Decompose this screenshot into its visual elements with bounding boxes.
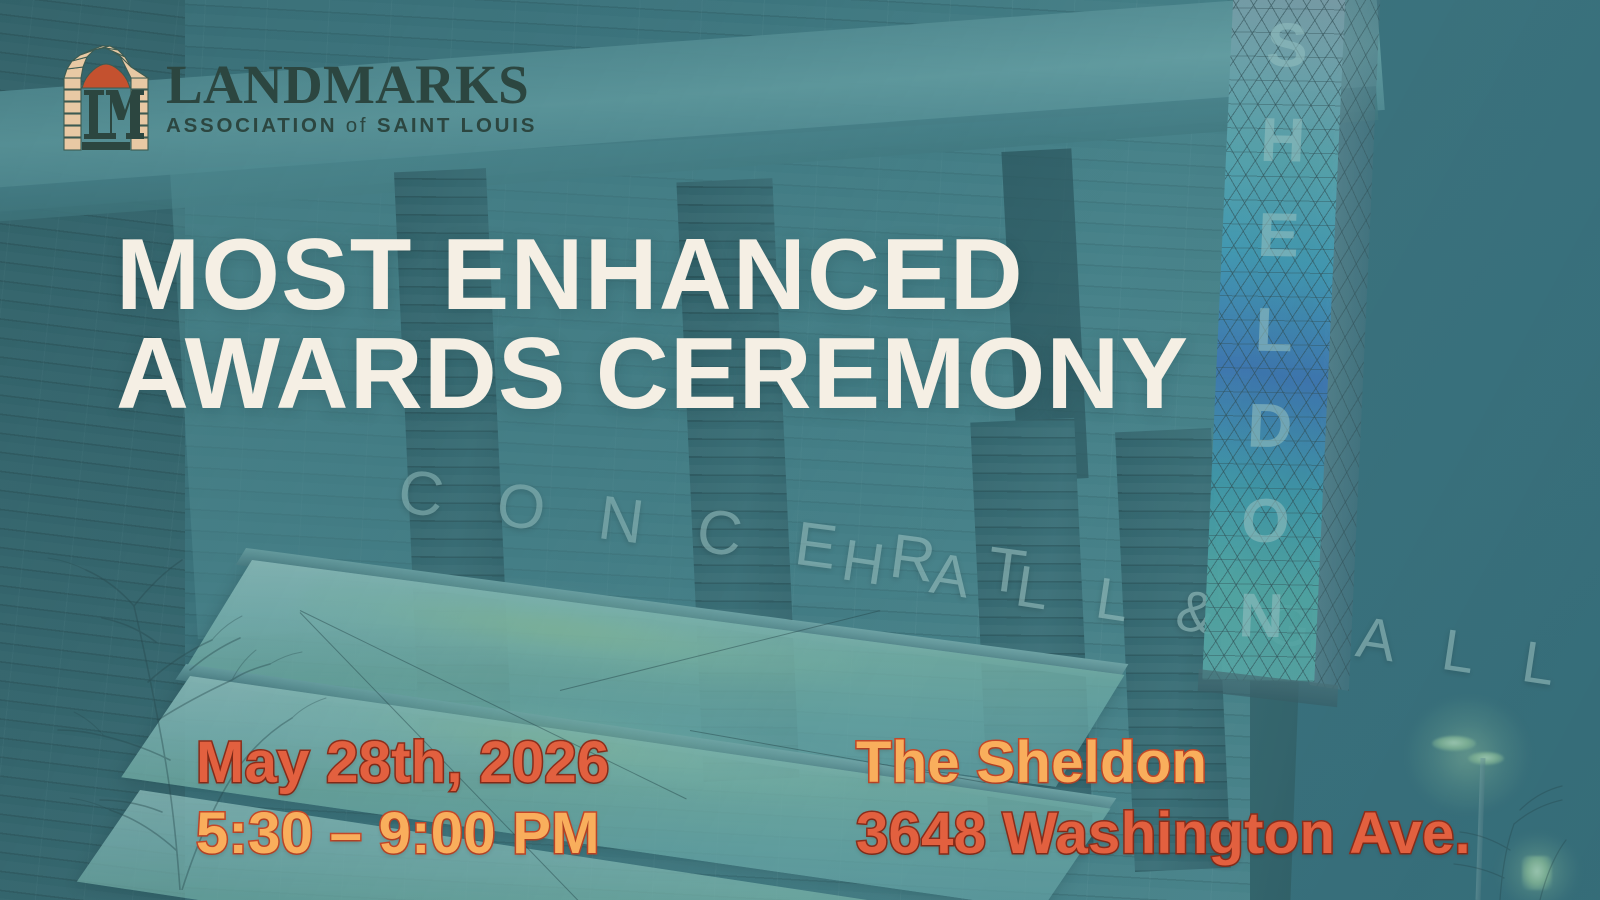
poster-content: LANDMARKS ASSOCIATION of SAINT LOUIS MOS… [0,0,1600,900]
event-datetime-block: May 28th, 2026 5:30 – 9:00 PM [196,728,610,870]
logo-title: LANDMARKS [166,60,537,111]
headline-line-2: AWARDS CEREMONY [116,325,1189,424]
event-venue-block: The Sheldon 3648 Washington Ave. [856,728,1471,870]
logo-subtitle-of: of [346,114,369,137]
event-time: 5:30 – 9:00 PM [196,799,610,870]
logo-subtitle: ASSOCIATION of SAINT LOUIS [166,116,537,137]
archway-landmark-icon [60,42,152,154]
event-headline: MOST ENHANCED AWARDS CEREMONY [116,226,1189,424]
event-poster: C O N C E R T H A L L & G A L L E R I E … [0,0,1600,900]
headline-line-1: MOST ENHANCED [116,226,1189,325]
logo-wordmark: LANDMARKS ASSOCIATION of SAINT LOUIS [166,60,537,136]
logo-subtitle-association: ASSOCIATION [166,114,337,137]
logo-subtitle-saint-louis: SAINT LOUIS [377,114,537,137]
landmarks-logo: LANDMARKS ASSOCIATION of SAINT LOUIS [60,42,537,154]
event-date: May 28th, 2026 [196,728,610,799]
venue-address: 3648 Washington Ave. [856,799,1471,870]
venue-name: The Sheldon [856,728,1471,799]
